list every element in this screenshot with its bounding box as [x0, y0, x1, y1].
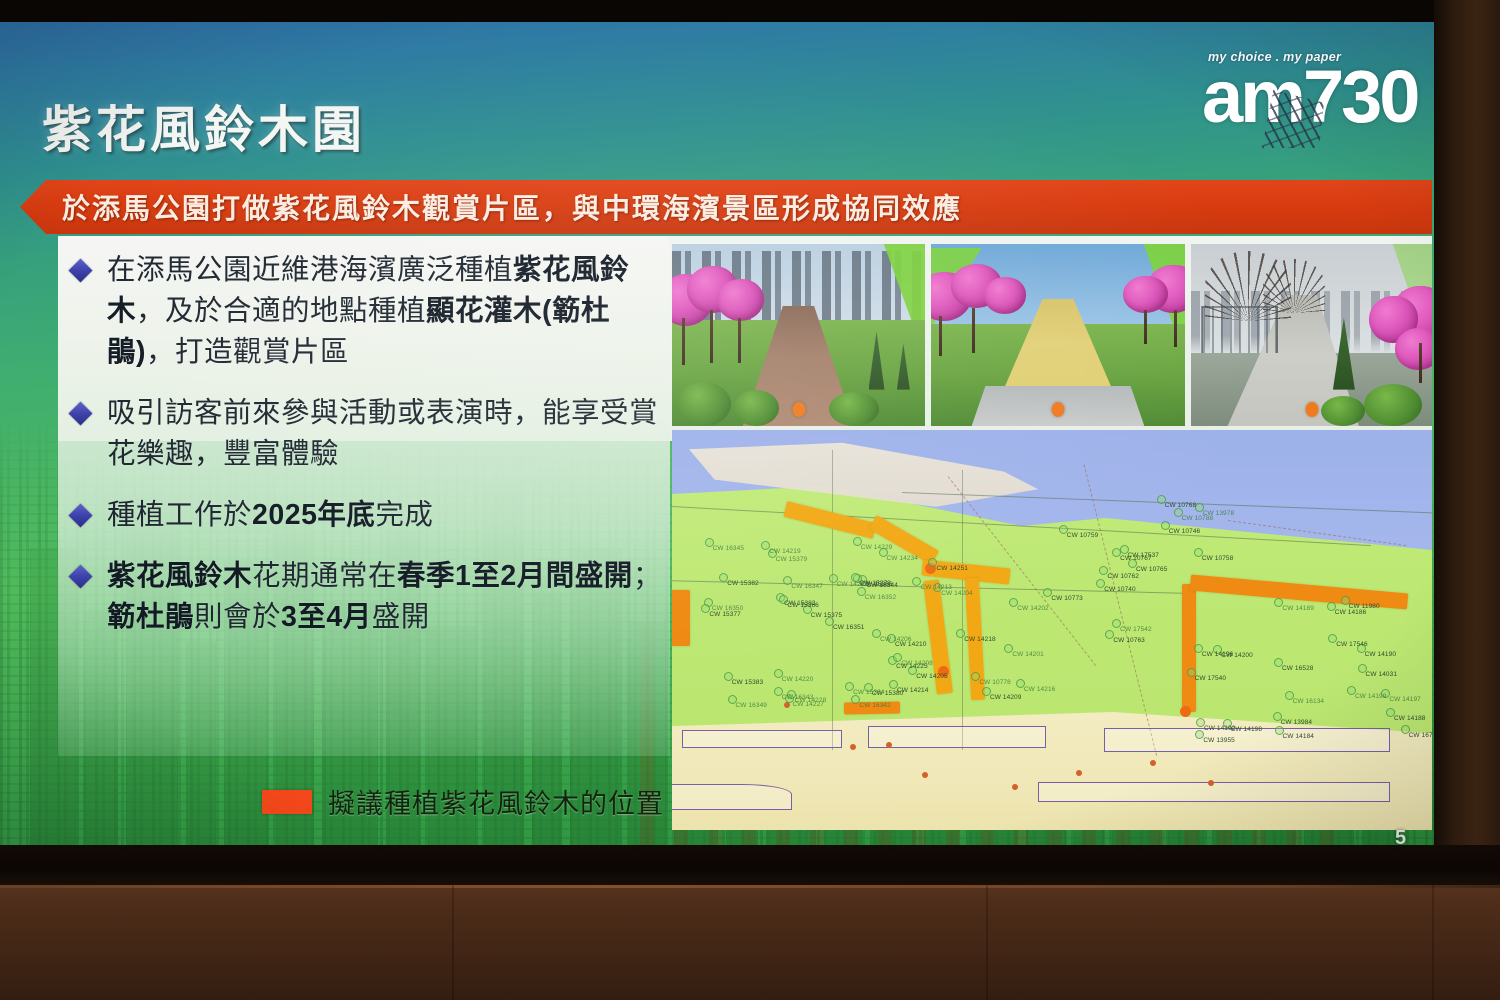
map-tree-label: CW 14234 — [887, 555, 919, 562]
map-tree-label: CW 10762 — [1107, 573, 1139, 580]
photo-waterfront-boardwalk — [672, 244, 925, 426]
map-tree-label: CW 16351 — [833, 624, 865, 631]
map-tree-label: CW 16345 — [713, 545, 745, 552]
photo-marker-dot — [792, 402, 805, 417]
map-tree-label: CW 17546 — [1336, 641, 1368, 648]
map-tree-label: CW 14190 — [1365, 651, 1397, 658]
map-tree-label: CW 14197 — [1389, 696, 1421, 703]
map-tree-label: CW 10763 — [1113, 637, 1145, 644]
map-tree-label: CW 10759 — [1067, 532, 1099, 539]
map-node-marker — [1180, 706, 1191, 717]
map-tree-label: CW 14188 — [1394, 715, 1426, 722]
am730-watermark: my choice . my paper am730 — [1196, 42, 1436, 138]
map-tree-label: CW 16528 — [1282, 665, 1314, 672]
map-tree-label: CW 10773 — [1051, 595, 1083, 602]
legend-color-swatch — [262, 790, 312, 814]
map-tree-label: CW 14229 — [861, 544, 893, 551]
map-tree-label: CW 14184 — [1283, 733, 1315, 740]
map-tree-label: CW 14219 — [769, 548, 801, 555]
tamar-park-planting-plan-map: CW 16351CW 16352CW 16350CW 16349CW 16347… — [672, 430, 1432, 830]
map-tree-label: CW 14202 — [1017, 605, 1049, 612]
map-tree-label: CW 15383 — [732, 679, 764, 686]
map-tree-label: CW 10740 — [1104, 586, 1136, 593]
map-tree-label: CW 14196 — [1202, 651, 1234, 658]
map-tree-label: CW 17540 — [1195, 675, 1227, 682]
bullet-text: 在添馬公園近維港海濱廣泛種植紫花風鈴木，及於合適的地點種植顯花灌木(簕杜鵑)，打… — [107, 250, 672, 373]
map-tree-label: CW 10758 — [1202, 555, 1234, 562]
map-tree-label: CW 14204 — [941, 590, 973, 597]
map-tree-label: CW 14210 — [895, 641, 927, 648]
screen-frame-right — [1434, 0, 1500, 890]
bullet-completion-date: 種植工作於2025年底完成 — [72, 495, 672, 536]
map-tree-label: CW 16134 — [1293, 698, 1325, 705]
bullet-text: 種植工作於2025年底完成 — [107, 495, 433, 536]
map-tree-label: CW 16342 — [859, 702, 891, 709]
map-tree-label: CW 15375 — [811, 612, 843, 619]
map-tree-label: CW 16349 — [736, 702, 768, 709]
screen-frame-bottom — [0, 845, 1500, 887]
map-tree-label: CW 17542 — [1120, 626, 1152, 633]
map-legend: 擬議種植紫花風鈴木的位置 — [262, 782, 664, 821]
photo-harbour-promenade — [1191, 244, 1432, 426]
bullet-text: 吸引訪客前來參與活動或表演時，能享受賞花樂趣，豐富體驗 — [107, 393, 672, 475]
bullet-text: 紫花風鈴木花期通常在春季1至2月間盛開；簕杜鵑則會於3至4月盛開 — [107, 556, 672, 638]
photo-marker-dot — [1052, 402, 1065, 417]
bullet-list: 在添馬公園近維港海濱廣泛種植紫花風鈴木，及於合適的地點種植顯花灌木(簕杜鵑)，打… — [72, 250, 672, 658]
map-tree-label: CW 17537 — [1128, 552, 1160, 559]
map-tree-label: CW 15379 — [776, 556, 808, 563]
screen-frame-top — [0, 0, 1500, 22]
bullet-diamond-icon — [68, 258, 92, 282]
map-tree-label: CW 14209 — [990, 694, 1022, 701]
map-tree-label: CW 14031 — [1366, 671, 1398, 678]
map-tree-label: CW 10765 — [1136, 566, 1168, 573]
map-tree-label: CW 14222 — [837, 581, 869, 588]
map-tree-label: CW 14205 — [916, 673, 948, 680]
map-tree-label: CW 15377 — [709, 611, 741, 618]
map-tree-label: CW 10746 — [1169, 528, 1201, 535]
map-tree-label: CW 14214 — [897, 687, 929, 694]
room-scene: 紫花風鈴木園 於添馬公園打做紫花風鈴木觀賞片區，與中環海濱景區形成協同效應 在添… — [0, 0, 1500, 1000]
bullet-diamond-icon — [68, 564, 92, 588]
subtitle-banner: 於添馬公園打做紫花風鈴木觀賞片區，與中環海濱景區形成協同效應 — [20, 180, 1432, 234]
subtitle-banner-text: 於添馬公園打做紫花風鈴木觀賞片區，與中環海濱景區形成協同效應 — [62, 187, 962, 227]
map-tree-label: CW 14199 — [1355, 693, 1387, 700]
map-tree-label: CW 15384 — [853, 689, 885, 696]
map-tree-label: CW 13984 — [1281, 719, 1313, 726]
map-tree-label: CW 14208 — [901, 660, 933, 667]
wall-below-screen — [0, 885, 1500, 1000]
photo-golden-avenue — [931, 244, 1185, 426]
map-tree-label: CW 14186 — [1335, 609, 1367, 616]
map-tree-label: CW 10768 — [1165, 502, 1197, 509]
bullet-diamond-icon — [68, 401, 92, 425]
map-tree-label: CW 16347 — [791, 583, 823, 590]
map-tree-label: CW 16734 — [1409, 732, 1432, 739]
map-tree-label: CW 14189 — [1282, 605, 1314, 612]
page-title: 紫花風鈴木園 — [42, 90, 366, 162]
bullet-blooming-season: 紫花風鈴木花期通常在春季1至2月間盛開；簕杜鵑則會於3至4月盛開 — [72, 556, 672, 638]
bullet-visitor-experience: 吸引訪客前來參與活動或表演時，能享受賞花樂趣，豐富體驗 — [72, 393, 672, 475]
map-tree-label: CW 16352 — [865, 594, 897, 601]
photo-strip — [672, 244, 1432, 426]
map-tree-label: CW 14218 — [964, 636, 996, 643]
map-tree-label: CW 14220 — [782, 676, 814, 683]
map-tree-label: CW 14192 — [1204, 725, 1236, 732]
photo-marker-dot — [1305, 402, 1318, 417]
presentation-slide: 紫花風鈴木園 於添馬公園打做紫花風鈴木觀賞片區，與中環海濱景區形成協同效應 在添… — [0, 22, 1434, 848]
map-tree-label: CW 15382 — [727, 580, 759, 587]
map-tree-label: CW 14216 — [1024, 686, 1056, 693]
map-tree-label: CW 14201 — [1012, 651, 1044, 658]
map-tree-label: CW 15366 — [787, 602, 819, 609]
legend-label: 擬議種植紫花風鈴木的位置 — [328, 782, 664, 821]
map-tree-label: CW 14251 — [936, 565, 968, 572]
map-tree-label: CW 14228 — [795, 697, 827, 704]
map-tree-label: CW 10778 — [979, 679, 1011, 686]
map-route-segment — [672, 590, 690, 646]
bullet-diamond-icon — [68, 503, 92, 527]
map-tree-label: CW 13978 — [1203, 510, 1235, 517]
map-tree-label: CW 13955 — [1203, 737, 1235, 744]
bullet-planting-scope: 在添馬公園近維港海濱廣泛種植紫花風鈴木，及於合適的地點種植顯花灌木(簕杜鵑)，打… — [72, 250, 672, 373]
